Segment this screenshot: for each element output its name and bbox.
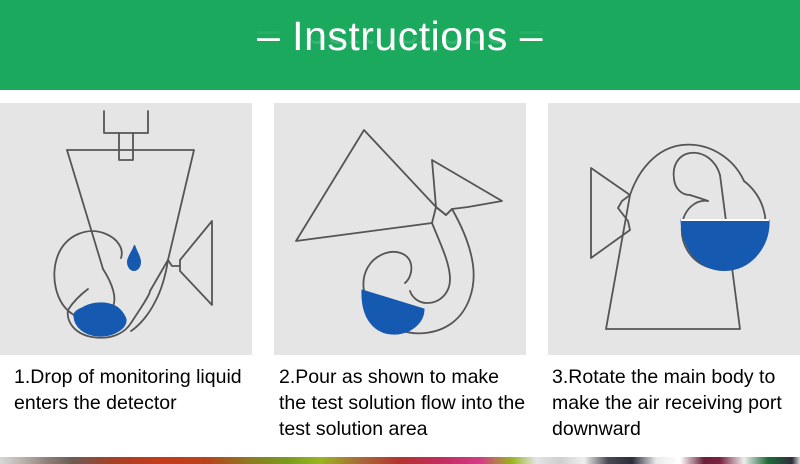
- header-banner: – Instructions – – Instructions –: [0, 0, 800, 90]
- funnel-body-left-edge: [67, 150, 103, 269]
- air-receiving-port: [591, 168, 630, 258]
- rotated-device-port-down-diagram: [548, 103, 800, 355]
- bottom-image-strip: [0, 457, 800, 464]
- bulb-neck-link: [690, 195, 708, 201]
- step-3-caption: 3.Rotate the main body to make the air r…: [542, 364, 800, 454]
- step-1-illustration-panel: [0, 103, 252, 355]
- blue-liquid-pool: [362, 290, 424, 334]
- blue-liquid-filled: [681, 220, 769, 271]
- header-banner-inner: – Instructions – – Instructions –: [0, 0, 800, 90]
- step-3-illustration-panel: [548, 103, 800, 355]
- step-captions: 1.Drop of monitoring liquid enters the d…: [0, 364, 800, 454]
- step-2-caption: 2.Pour as shown to make the test solutio…: [271, 364, 529, 454]
- blue-liquid-pool: [74, 303, 126, 336]
- instructions-page: – Instructions – – Instructions –: [0, 0, 800, 464]
- air-receiving-port: [432, 160, 502, 215]
- dropper-tip-icon: [119, 133, 133, 160]
- curved-neck-outer: [630, 145, 744, 195]
- step-2-illustration-panel: [274, 103, 526, 355]
- detector-receiving-drop-diagram: [0, 103, 252, 355]
- dropper-nozzle-icon: [104, 111, 148, 133]
- illustration-panels: [0, 103, 800, 355]
- funnel-body-right-edge: [67, 150, 194, 291]
- curved-neck-inner: [410, 223, 450, 303]
- tilted-device-pouring-diagram: [274, 103, 526, 355]
- step-1-caption: 1.Drop of monitoring liquid enters the d…: [0, 364, 258, 454]
- tilted-funnel-body: [296, 130, 436, 241]
- curved-neck-inner: [674, 153, 720, 195]
- page-title: – Instructions –: [257, 14, 543, 58]
- liquid-drop-icon: [127, 245, 141, 271]
